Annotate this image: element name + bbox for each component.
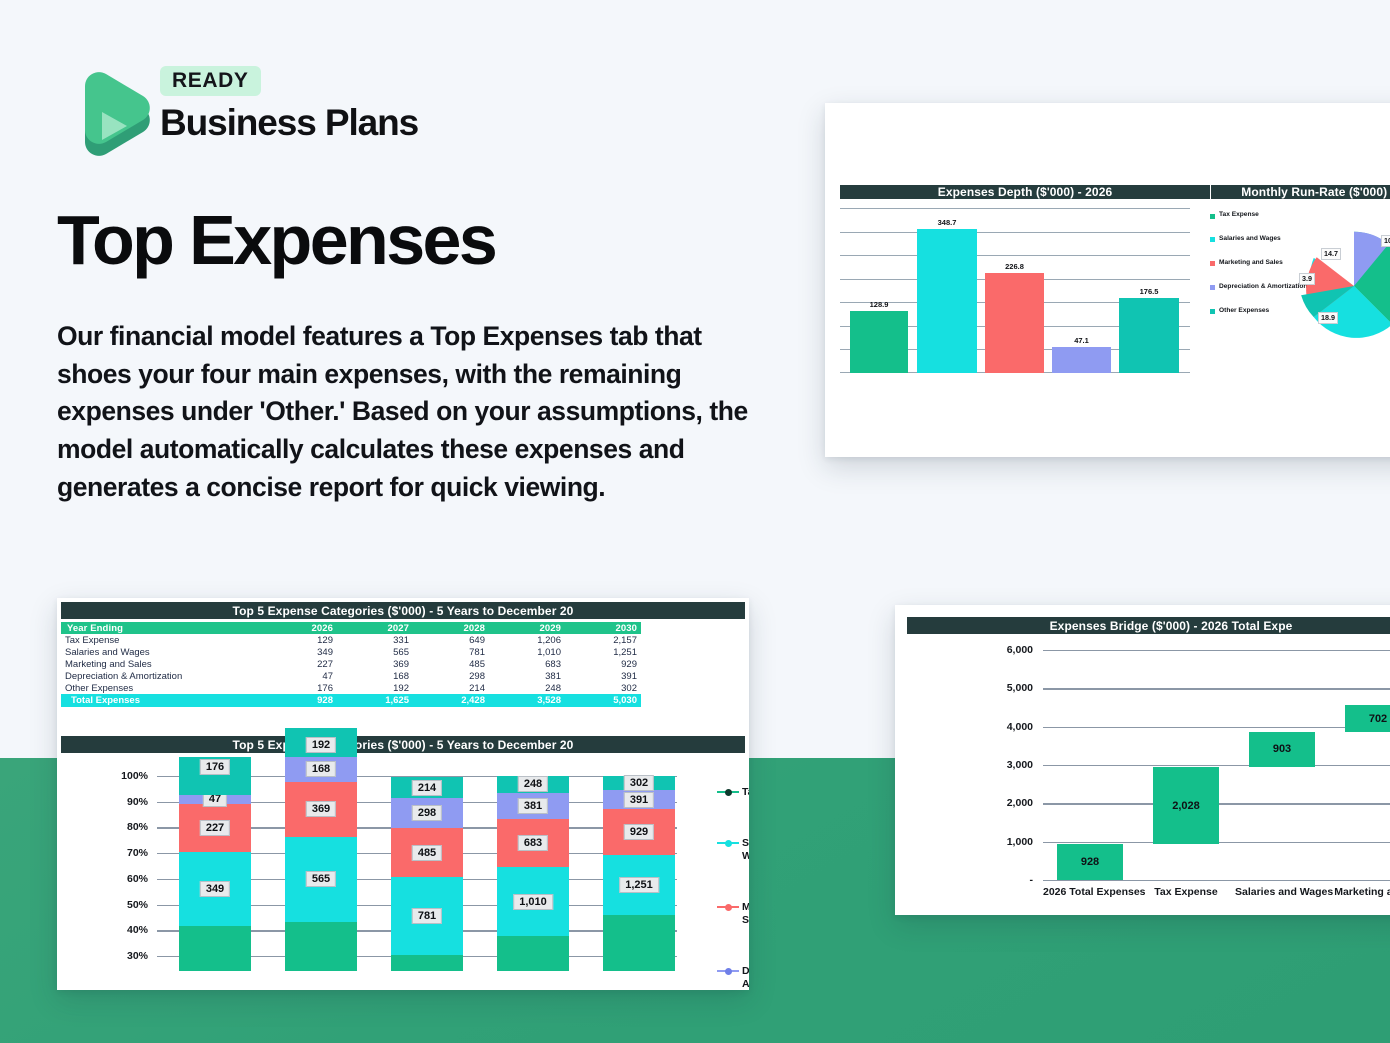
legend-label: Salaries and Wages <box>1219 235 1281 243</box>
table-cell: 1,625 <box>337 694 413 707</box>
segment-tax-expense <box>603 915 675 971</box>
legend-label: Tax Expense <box>742 786 749 799</box>
segment-label: 929 <box>624 824 654 840</box>
table-cell: 928 <box>261 694 337 707</box>
pie-label-depreciation-amortization: 10.7 <box>1381 235 1390 247</box>
y-tick-label: 5,000 <box>1007 682 1033 694</box>
table-row: Other Expenses 176 192 214 248 302 <box>61 682 745 694</box>
play-triangle-logo-icon <box>57 54 153 158</box>
waterfall-bar-2026-total-expenses: 928 <box>1057 844 1123 880</box>
table-cell: 302 <box>565 682 641 694</box>
table-cell: 565 <box>337 646 413 658</box>
segment-label: 176 <box>200 759 230 775</box>
legend-line-marker-icon <box>717 786 739 798</box>
top5-chart-legend: Tax Expense Salaries and Wages Marketing… <box>717 786 749 990</box>
legend-line-marker-icon <box>717 965 739 977</box>
depth-bar-plot: 128.9 348.7 226.8 47.1 176.5 <box>840 208 1190 373</box>
segment-label: 485 <box>412 845 442 861</box>
y-tick-label: 60% <box>127 873 148 885</box>
segment-salaries-and-wages: 781 <box>391 877 463 955</box>
top5-chart-title: Top 5 Expense Categories ($'000) - 5 Yea… <box>61 736 745 753</box>
pie-label-other-expenses: 3.9 <box>1299 273 1315 285</box>
table-cell: 129 <box>261 634 337 646</box>
y-tick-label: 2,000 <box>1007 797 1033 809</box>
y-tick-label: 50% <box>127 899 148 911</box>
segment-salaries-and-wages: 565 <box>285 837 357 922</box>
y-tick-label: 6,000 <box>1007 644 1033 656</box>
table-cell: 391 <box>565 670 641 682</box>
slide-canvas: READY Business Plans Top Expenses Our fi… <box>0 0 1390 1043</box>
segment-label: 227 <box>200 820 230 836</box>
monthly-runrate-pie-chart: 10.7 14.7 3.9 18.9 <box>1295 227 1390 345</box>
legend-line-marker-icon <box>717 837 739 849</box>
page-description: Our financial model features a Top Expen… <box>57 318 757 506</box>
legend-label: Marketing and Sales <box>1219 259 1283 267</box>
legend-item: Marketing and Sales <box>717 901 749 927</box>
bar-depreciation-amortization <box>1052 347 1111 373</box>
segment-label: 214 <box>412 780 442 796</box>
table-row: Salaries and Wages 349 565 781 1,010 1,2… <box>61 646 745 658</box>
table-cell: Total Expenses <box>61 694 261 707</box>
table-total-row: Total Expenses 928 1,625 2,428 3,528 5,0… <box>61 694 745 707</box>
table-cell: 2,428 <box>413 694 489 707</box>
expenses-bridge-card: Expenses Bridge ($'000) - 2026 Total Exp… <box>895 605 1390 915</box>
segment-salaries-and-wages: 1,251 <box>603 855 675 916</box>
expenses-bridge-waterfall-plot: 6,000 5,000 4,000 3,000 2,000 1,000 - 92… <box>1043 650 1390 880</box>
depth-chart-title: Expenses Depth ($'000) - 2026 <box>840 185 1210 199</box>
bar-label-tax-expense: 128.9 <box>850 300 908 309</box>
segment-depreciation-amortization: 168 <box>285 757 357 782</box>
table-row: Tax Expense 129 331 649 1,206 2,157 <box>61 634 745 646</box>
y-tick-label: 3,000 <box>1007 759 1033 771</box>
bar-marketing-and-sales <box>985 273 1044 373</box>
segment-label: 369 <box>306 801 336 817</box>
table-cell: 331 <box>337 634 413 646</box>
top5-table-title: Top 5 Expense Categories ($'000) - 5 Yea… <box>61 602 745 619</box>
segment-salaries-and-wages: 349 <box>179 852 251 925</box>
x-category-label: Marketing and Sales <box>1331 886 1390 898</box>
bar-tax-expense <box>850 311 908 373</box>
stacked-column-2026: 349 227 47 176 <box>179 776 251 971</box>
segment-depreciation-amortization: 381 <box>497 793 569 819</box>
table-cell: 248 <box>489 682 565 694</box>
bar-label-marketing-and-sales: 226.8 <box>985 262 1044 271</box>
top5-expense-categories-card: Top 5 Expense Categories ($'000) - 5 Yea… <box>57 598 749 990</box>
stacked-column-2029: 1,010 683 381 248 <box>497 776 569 971</box>
table-cell: 298 <box>413 670 489 682</box>
table-cell: 3,528 <box>489 694 565 707</box>
segment-other-expenses: 192 <box>285 728 357 757</box>
legend-label: Salaries and Wages <box>742 837 749 863</box>
table-cell: 929 <box>565 658 641 670</box>
segment-depreciation-amortization: 298 <box>391 798 463 828</box>
stacked-column-2030: 1,251 929 391 302 <box>603 776 675 971</box>
table-header-cell: 2030 <box>565 622 641 634</box>
bar-label-other-expenses: 176.5 <box>1119 287 1179 296</box>
table-cell: 176 <box>261 682 337 694</box>
segment-label: 349 <box>200 881 230 897</box>
bar-salaries-and-wages <box>917 229 977 373</box>
table-cell: 227 <box>261 658 337 670</box>
table-row: Depreciation & Amortization 47 168 298 3… <box>61 670 745 682</box>
x-category-label: Salaries and Wages <box>1235 886 1329 898</box>
legend-swatch-icon <box>1210 214 1215 219</box>
table-cell: 1,010 <box>489 646 565 658</box>
table-header-cell: 2028 <box>413 622 489 634</box>
legend-swatch-icon <box>1210 261 1215 266</box>
segment-label: 248 <box>518 776 548 792</box>
table-cell: 349 <box>261 646 337 658</box>
table-row: Marketing and Sales 227 369 485 683 929 <box>61 658 745 670</box>
segment-tax-expense <box>285 922 357 972</box>
table-cell: 192 <box>337 682 413 694</box>
segment-salaries-and-wages: 1,010 <box>497 867 569 937</box>
x-category-label: Tax Expense <box>1139 886 1233 898</box>
pie-svg <box>1295 227 1390 345</box>
legend-swatch-icon <box>1210 237 1215 242</box>
segment-label: 168 <box>306 761 336 777</box>
segment-tax-expense <box>497 936 569 971</box>
page-title: Top Expenses <box>57 205 495 275</box>
pie-label-marketing-and-sales: 14.7 <box>1321 248 1341 260</box>
y-tick-label: 70% <box>127 847 148 859</box>
table-header-row: Year Ending 2026 2027 2028 2029 2030 <box>61 622 745 634</box>
waterfall-bar-marketing-and-sales: 702 <box>1345 705 1390 732</box>
segment-label: 302 <box>624 775 654 791</box>
y-tick-label: 40% <box>127 924 148 936</box>
table-cell: Tax Expense <box>61 634 261 646</box>
legend-label: Other Expenses <box>1219 307 1269 315</box>
segment-tax-expense <box>179 926 251 971</box>
table-cell: 485 <box>413 658 489 670</box>
segment-marketing-and-sales: 485 <box>391 828 463 877</box>
segment-tax-expense <box>391 955 463 971</box>
legend-item: Tax Expense <box>1210 211 1310 219</box>
stacked-column-2027: 565 369 168 192 <box>285 776 357 971</box>
y-tick-label: 90% <box>127 796 148 808</box>
waterfall-bar-tax-expense: 2,028 <box>1153 767 1219 845</box>
runrate-chart-title: Monthly Run-Rate ($'000) - <box>1211 185 1390 199</box>
table-cell: Marketing and Sales <box>61 658 261 670</box>
x-category-label: 2026 Total Expenses <box>1043 886 1137 898</box>
segment-label: 381 <box>518 798 548 814</box>
table-header-cell: Year Ending <box>61 622 261 634</box>
stacked-column-2028: 781 485 298 214 <box>391 776 463 971</box>
segment-other-expenses: 176 <box>179 757 251 794</box>
table-header-cell: 2026 <box>261 622 337 634</box>
waterfall-bar-label: 702 <box>1369 713 1387 725</box>
y-tick-label: 80% <box>127 821 148 833</box>
segment-label: 683 <box>518 835 548 851</box>
table-cell: 381 <box>489 670 565 682</box>
bar-label-salaries-and-wages: 348.7 <box>917 218 977 227</box>
segment-label: 391 <box>624 792 654 808</box>
legend-label: Marketing and Sales <box>742 901 749 927</box>
legend-item: Tax Expense <box>717 786 749 799</box>
legend-label: Depreciation & Amortization <box>742 965 749 990</box>
table-header-cell: 2027 <box>337 622 413 634</box>
waterfall-bar-label: 903 <box>1273 743 1291 755</box>
brand-name: Business Plans <box>160 102 418 144</box>
legend-label: Tax Expense <box>1219 211 1259 219</box>
segment-depreciation-amortization: 391 <box>603 790 675 809</box>
segment-label: 1,251 <box>619 877 659 893</box>
expenses-depth-card: Expenses Depth ($'000) - 2026 Monthly Ru… <box>825 103 1390 457</box>
waterfall-bar-label: 928 <box>1081 856 1099 868</box>
pie-label-salaries-and-wages: 18.9 <box>1318 312 1338 324</box>
y-tick-label: - <box>1030 874 1034 886</box>
top5-expense-table: Year Ending 2026 2027 2028 2029 2030 Tax… <box>61 622 745 707</box>
table-cell: 369 <box>337 658 413 670</box>
y-tick-label: 1,000 <box>1007 836 1033 848</box>
table-cell: 1,206 <box>489 634 565 646</box>
table-cell: 683 <box>489 658 565 670</box>
bridge-chart-title: Expenses Bridge ($'000) - 2026 Total Exp… <box>907 617 1390 634</box>
segment-label: 1,010 <box>513 894 553 910</box>
waterfall-bar-label: 2,028 <box>1172 800 1200 812</box>
segment-marketing-and-sales: 929 <box>603 809 675 854</box>
segment-label: 192 <box>306 737 336 753</box>
legend-item: Salaries and Wages <box>717 837 749 863</box>
bar-other-expenses <box>1119 298 1179 373</box>
table-header-cell: 2029 <box>489 622 565 634</box>
segment-marketing-and-sales: 369 <box>285 782 357 837</box>
segment-label: 781 <box>412 908 442 924</box>
segment-marketing-and-sales: 683 <box>497 819 569 866</box>
table-cell: 47 <box>261 670 337 682</box>
brand-text: READY Business Plans <box>160 66 418 144</box>
bar-label-depreciation-amortization: 47.1 <box>1052 336 1111 345</box>
table-cell: 168 <box>337 670 413 682</box>
table-cell: 781 <box>413 646 489 658</box>
segment-label: 565 <box>306 871 336 887</box>
table-cell: 5,030 <box>565 694 641 707</box>
table-cell: 214 <box>413 682 489 694</box>
table-cell: Depreciation & Amortization <box>61 670 261 682</box>
table-cell: 1,251 <box>565 646 641 658</box>
table-cell: Salaries and Wages <box>61 646 261 658</box>
legend-swatch-icon <box>1210 285 1215 290</box>
segment-other-expenses: 214 <box>391 777 463 798</box>
ready-badge: READY <box>160 66 261 96</box>
legend-item: Depreciation & Amortization <box>717 965 749 990</box>
segment-label: 298 <box>412 805 442 821</box>
table-cell: 2,157 <box>565 634 641 646</box>
legend-swatch-icon <box>1210 309 1215 314</box>
depth-title-band-row: Expenses Depth ($'000) - 2026 Monthly Ru… <box>840 185 1390 199</box>
segment-marketing-and-sales: 227 <box>179 804 251 852</box>
y-tick-label: 30% <box>127 950 148 962</box>
y-tick-label: 100% <box>121 770 148 782</box>
segment-other-expenses: 248 <box>497 776 569 793</box>
legend-line-marker-icon <box>717 901 739 913</box>
top5-stacked-bar-plot: 100% 90% 80% 70% 60% 50% 40% 30% 349 <box>157 776 677 971</box>
table-cell: Other Expenses <box>61 682 261 694</box>
y-tick-label: 4,000 <box>1007 721 1033 733</box>
waterfall-bar-salaries-and-wages: 903 <box>1249 732 1315 767</box>
segment-depreciation-amortization: 47 <box>179 795 251 805</box>
segment-other-expenses: 302 <box>603 776 675 791</box>
table-cell: 649 <box>413 634 489 646</box>
